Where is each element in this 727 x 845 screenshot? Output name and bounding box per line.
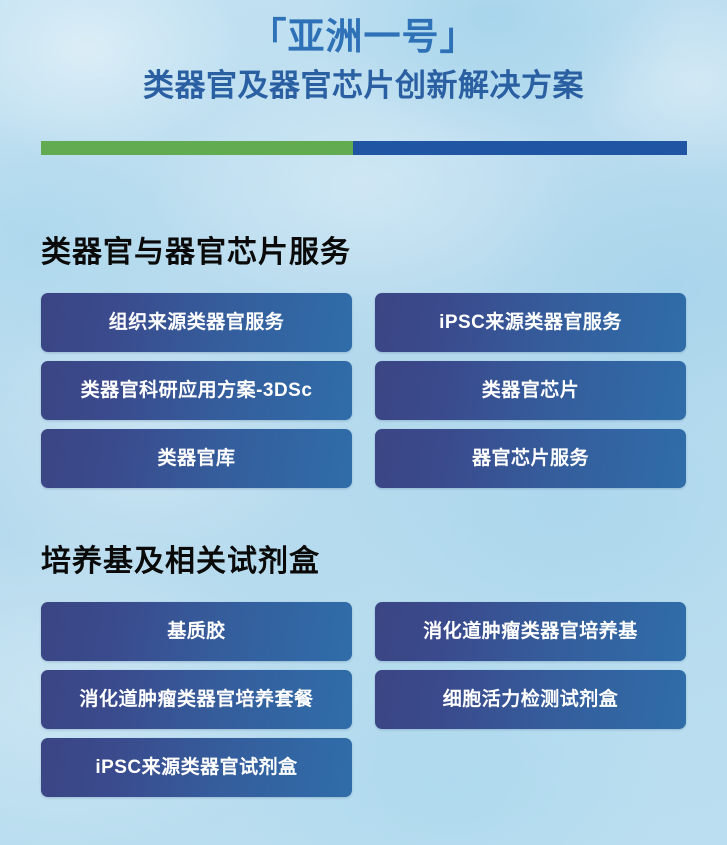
service-card[interactable]: iPSC来源类器官服务	[375, 293, 686, 352]
reagent-card-label: 基质胶	[167, 620, 226, 644]
reagent-card[interactable]: 细胞活力检测试剂盒	[375, 670, 686, 729]
reagent-card-label: 细胞活力检测试剂盒	[443, 688, 619, 712]
section-services: 类器官与器官芯片服务 组织来源类器官服务 iPSC来源类器官服务 类器官科研应用…	[0, 231, 727, 488]
service-card-label: 类器官科研应用方案-3DSc	[81, 379, 313, 403]
reagent-card-label: 消化道肿瘤类器官培养基	[423, 620, 638, 644]
section-title-reagents: 培养基及相关试剂盒	[41, 540, 727, 584]
reagent-card[interactable]: iPSC来源类器官试剂盒	[41, 738, 352, 797]
header-divider-bar	[41, 141, 687, 155]
reagent-card-label: iPSC来源类器官试剂盒	[95, 756, 297, 780]
divider-segment-blue	[353, 141, 687, 155]
service-card-label: iPSC来源类器官服务	[439, 311, 622, 335]
section-title-services: 类器官与器官芯片服务	[41, 231, 727, 275]
reagent-card[interactable]: 基质胶	[41, 602, 352, 661]
card-grid-services: 组织来源类器官服务 iPSC来源类器官服务 类器官科研应用方案-3DSc 类器官…	[0, 293, 727, 488]
service-card[interactable]: 类器官科研应用方案-3DSc	[41, 361, 352, 420]
service-card[interactable]: 类器官芯片	[375, 361, 686, 420]
service-card-label: 类器官芯片	[482, 379, 580, 403]
service-card-label: 器官芯片服务	[472, 447, 589, 471]
page-title: 「亚洲一号」	[0, 0, 727, 60]
poster-canvas: 「亚洲一号」 类器官及器官芯片创新解决方案 类器官与器官芯片服务 组织来源类器官…	[0, 0, 727, 845]
reagent-card[interactable]: 消化道肿瘤类器官培养套餐	[41, 670, 352, 729]
page-subtitle: 类器官及器官芯片创新解决方案	[0, 60, 727, 106]
reagent-card-label: 消化道肿瘤类器官培养套餐	[79, 688, 313, 712]
service-card[interactable]: 组织来源类器官服务	[41, 293, 352, 352]
card-grid-reagents: 基质胶 消化道肿瘤类器官培养基 消化道肿瘤类器官培养套餐 细胞活力检测试剂盒 i…	[0, 602, 727, 797]
service-card[interactable]: 器官芯片服务	[375, 429, 686, 488]
divider-segment-green	[41, 141, 353, 155]
reagent-card[interactable]: 消化道肿瘤类器官培养基	[375, 602, 686, 661]
service-card-label: 类器官库	[157, 447, 235, 471]
poster-header: 「亚洲一号」 类器官及器官芯片创新解决方案	[0, 0, 727, 106]
section-reagents: 培养基及相关试剂盒 基质胶 消化道肿瘤类器官培养基 消化道肿瘤类器官培养套餐 细…	[0, 540, 727, 797]
service-card-label: 组织来源类器官服务	[109, 311, 285, 335]
service-card[interactable]: 类器官库	[41, 429, 352, 488]
